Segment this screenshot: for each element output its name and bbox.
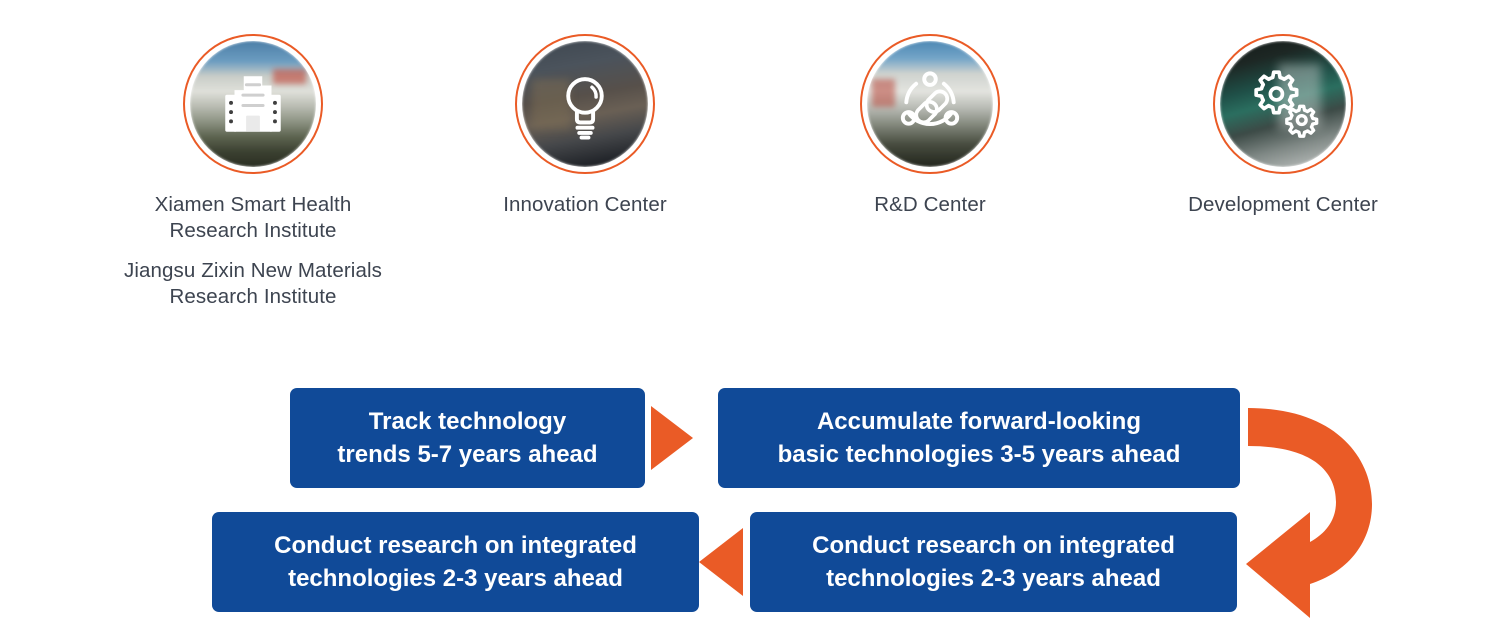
institute-label: Xiamen Smart Health Research Institute	[103, 192, 403, 244]
flow-diagram: Track technology trends 5-7 years ahead …	[0, 350, 1500, 638]
badge-photo	[867, 41, 993, 167]
institute-label-secondary: Jiangsu Zixin New Materials Research Ins…	[103, 258, 403, 310]
flow-box-accumulate-technologies[interactable]: Accumulate forward-looking basic technol…	[718, 388, 1240, 488]
arrow-curve-down-left-icon	[1244, 386, 1434, 626]
flow-box-integrated-research-right[interactable]: Conduct research on integrated technolog…	[750, 512, 1237, 612]
gears-icon	[1246, 67, 1320, 141]
badge-photo	[190, 41, 316, 167]
badge-ring[interactable]	[860, 34, 1000, 174]
building-icon	[216, 67, 290, 141]
institute-label: R&D Center	[780, 192, 1080, 218]
institute-label: Development Center	[1133, 192, 1433, 218]
badge-photo	[1220, 41, 1346, 167]
badge-photo	[522, 41, 648, 167]
badge-ring[interactable]	[183, 34, 323, 174]
institutes-row: Xiamen Smart Health Research Institute J…	[0, 0, 1500, 350]
institute-item[interactable]: Development Center	[1133, 34, 1433, 218]
flow-box-track-technology[interactable]: Track technology trends 5-7 years ahead	[290, 388, 645, 488]
institute-label: Innovation Center	[435, 192, 735, 218]
institute-item[interactable]: R&D Center	[780, 34, 1080, 218]
arrow-right-top-icon	[651, 406, 693, 470]
lightbulb-icon	[548, 67, 622, 141]
institute-item[interactable]: Innovation Center	[435, 34, 735, 218]
flow-box-integrated-research-left[interactable]: Conduct research on integrated technolog…	[212, 512, 699, 612]
arrow-left-bottom-icon	[699, 528, 743, 596]
institute-item[interactable]: Xiamen Smart Health Research Institute J…	[103, 34, 403, 310]
badge-ring[interactable]	[1213, 34, 1353, 174]
network-link-icon	[893, 67, 967, 141]
badge-ring[interactable]	[515, 34, 655, 174]
